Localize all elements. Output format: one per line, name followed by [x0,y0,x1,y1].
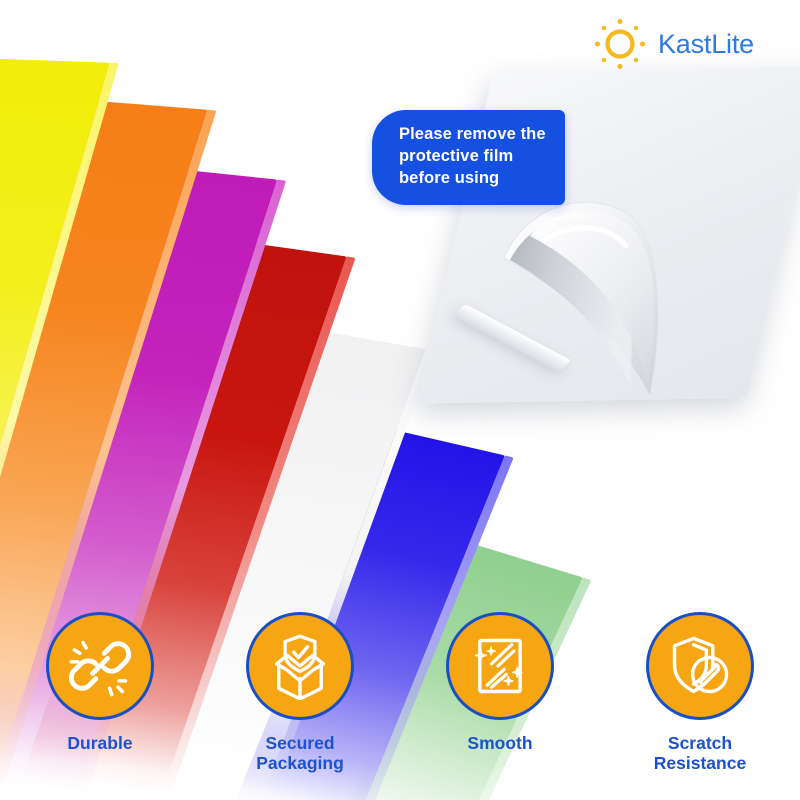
feature-icon-badge [46,612,154,720]
shield-blade-icon [666,632,734,700]
feature-label: Scratch Resistance [654,733,746,774]
feature-label: Smooth [467,733,532,754]
feature-label: Durable [67,733,132,754]
feature-icon-badge [446,612,554,720]
feature-scratch-resistance[interactable]: Scratch Resistance [607,612,793,774]
chain-link-icon [66,632,134,700]
feature-row: Durable Secured Packaging [0,612,800,774]
feature-durable[interactable]: Durable [7,612,193,754]
feature-secured-packaging[interactable]: Secured Packaging [207,612,393,774]
protective-film-peel [500,188,680,418]
sun-icon [592,16,648,72]
brand-name: KastLite [658,29,754,60]
feature-icon-badge [246,612,354,720]
brand-logo: KastLite [592,16,754,72]
product-image-canvas: KastLite Please remove the protective fi… [0,0,800,800]
feature-label: Secured Packaging [256,733,344,774]
feature-smooth[interactable]: Smooth [407,612,593,754]
sparkle-panel-icon [466,632,534,700]
protective-film-callout: Please remove the protective film before… [372,110,565,205]
feature-icon-badge [646,612,754,720]
shield-box-icon [266,632,334,700]
